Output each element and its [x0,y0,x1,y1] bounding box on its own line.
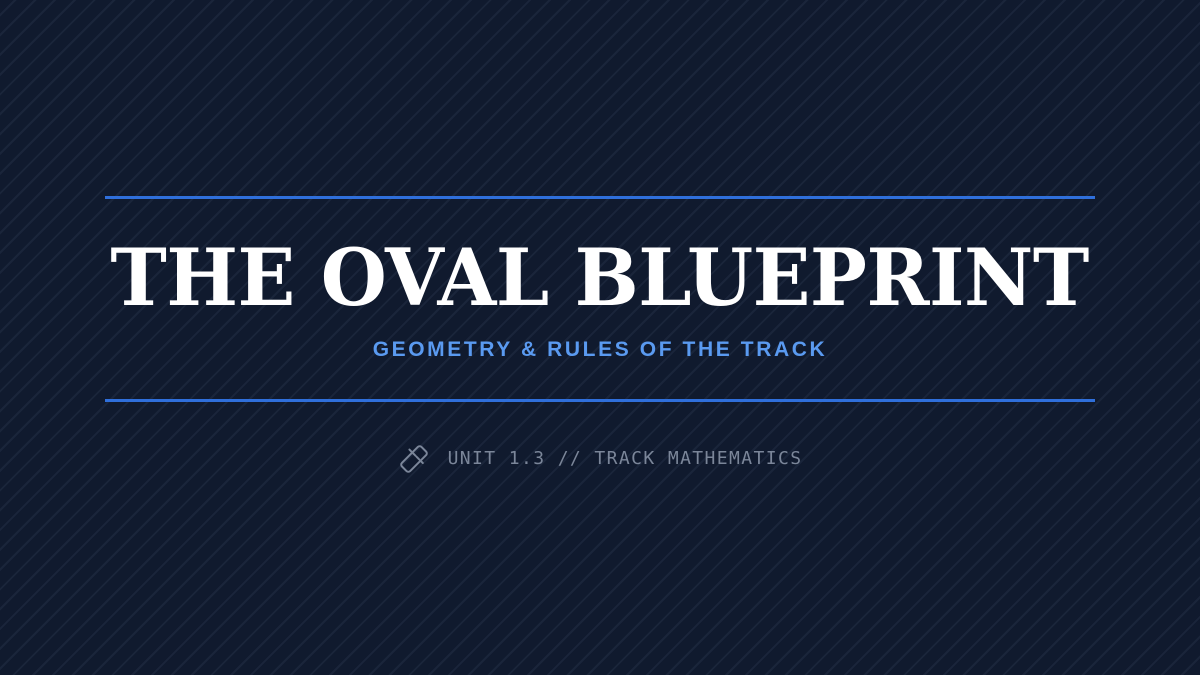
footer-meta-row: UNIT 1.3 // TRACK MATHEMATICS [0,443,1200,475]
footer-unit-label: UNIT 1.3 // TRACK MATHEMATICS [448,450,803,468]
title-block: THE OVAL BLUEPRINT GEOMETRY & RULES OF T… [0,196,1200,402]
ruler-icon [398,443,430,475]
title-slide: THE OVAL BLUEPRINT GEOMETRY & RULES OF T… [0,0,1200,675]
page-title: THE OVAL BLUEPRINT [111,238,1089,317]
divider-rule-bottom [105,399,1095,402]
slide-content: THE OVAL BLUEPRINT GEOMETRY & RULES OF T… [0,0,1200,675]
page-subtitle: GEOMETRY & RULES OF THE TRACK [373,339,828,360]
